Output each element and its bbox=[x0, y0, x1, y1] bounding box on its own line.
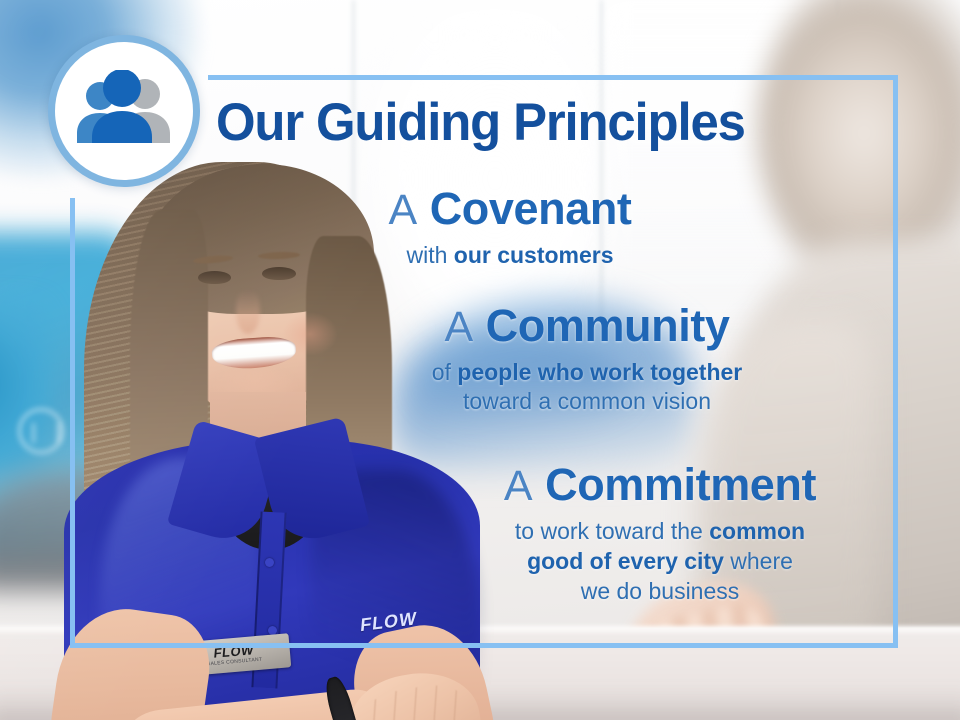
principle-community: A Community of people who work togethert… bbox=[352, 303, 822, 416]
frame-border-left bbox=[70, 198, 75, 648]
principle-heading: A Covenant bbox=[300, 186, 720, 233]
frame-border-right bbox=[893, 75, 898, 648]
principle-covenant: A Covenant with our customers bbox=[300, 186, 720, 270]
employee-nose bbox=[236, 290, 260, 334]
principle-article: A bbox=[388, 186, 417, 234]
employee-eye-left bbox=[198, 271, 231, 284]
principle-keyword: Covenant bbox=[430, 183, 632, 234]
principle-subtext: with our customers bbox=[300, 241, 720, 270]
principle-heading: A Commitment bbox=[430, 462, 890, 509]
principle-heading: A Community bbox=[352, 303, 822, 350]
people-group-badge bbox=[48, 35, 200, 187]
employee-eye-right bbox=[262, 267, 296, 280]
photo-blurred-logo-icon bbox=[18, 408, 64, 454]
principle-keyword: Commitment bbox=[545, 459, 816, 510]
principle-keyword: Community bbox=[486, 300, 730, 351]
principle-subtext: to work toward the commongood of every c… bbox=[430, 517, 890, 607]
banner-root: FLOW FLOW SALES CONSULTANT bbox=[0, 0, 960, 720]
people-group-icon bbox=[72, 70, 176, 152]
principle-commitment: A Commitment to work toward the commongo… bbox=[430, 462, 890, 607]
frame-border-bottom bbox=[70, 643, 898, 648]
principle-subtext: of people who work togethertoward a comm… bbox=[352, 358, 822, 416]
page-title: Our Guiding Principles bbox=[216, 96, 745, 149]
photo-glass-mullion bbox=[600, 0, 603, 330]
employee-shirt-button bbox=[265, 558, 274, 567]
principle-article: A bbox=[504, 462, 533, 510]
frame-border-top bbox=[208, 75, 898, 80]
principle-article: A bbox=[444, 303, 473, 351]
